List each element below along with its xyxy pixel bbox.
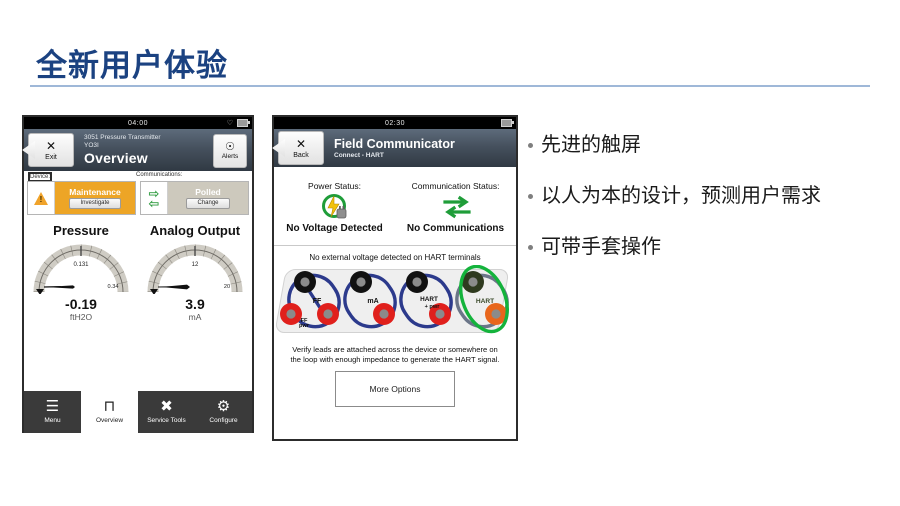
svg-text:+ pwr: + pwr xyxy=(425,304,441,310)
device1-body: Device: Communications: Maintenance Inve… xyxy=(24,171,252,433)
pressure-unit: ftH2O xyxy=(70,312,92,322)
list-item: 先进的触屏 xyxy=(528,132,878,159)
device1-title: Overview xyxy=(84,150,161,166)
power-plug-icon xyxy=(321,193,349,221)
bell-icon: ☉ xyxy=(225,142,235,153)
device2-body: Power Status: No Voltage Detected Commu xyxy=(274,167,516,439)
pressure-gauge-dial: 0.131 0.34 xyxy=(33,242,129,294)
pressure-gauge-title: Pressure xyxy=(53,223,109,238)
nav-item-service-tools[interactable]: ✖ Service Tools xyxy=(138,391,195,433)
device2-clock: 02:30 xyxy=(385,120,405,127)
svg-text:0.34: 0.34 xyxy=(108,284,119,290)
device2-statusbar: 02:30 xyxy=(274,117,516,129)
device1-subtitle-line2: YO3I xyxy=(84,142,161,150)
svg-text:pwr: pwr xyxy=(299,323,310,329)
bullet-dot-icon xyxy=(528,194,533,199)
device1-header-text: 3051 Pressure Transmitter YO3I Overview xyxy=(84,134,161,166)
device2-status-grid: Power Status: No Voltage Detected Commu xyxy=(274,167,516,246)
back-button[interactable]: ✕ Back xyxy=(278,131,324,165)
bullet-text: 可带手套操作 xyxy=(541,234,661,261)
device1-clock: 04:00 xyxy=(128,120,148,127)
svg-text:FF: FF xyxy=(313,298,322,305)
gauge-icon: ⊓ xyxy=(104,400,116,414)
investigate-button[interactable]: Investigate xyxy=(69,198,120,209)
svg-text:20: 20 xyxy=(224,284,230,290)
device-screenshot-overview: 04:00 ♡ ✕ Exit 3051 Pressure Transmitter… xyxy=(22,115,254,433)
nav-item-overview[interactable]: ⊓ Overview xyxy=(81,391,138,433)
device1-bottom-nav: ☰ Menu ⊓ Overview ✖ Service Tools ⚙ Conf… xyxy=(24,391,252,433)
svg-text:HART: HART xyxy=(420,296,438,303)
connector-diagram: FF FF pwr mA HART + pwr xyxy=(274,265,516,343)
device1-gauges: Pressure 0.131 0.34 xyxy=(24,223,252,322)
bullet-text: 先进的触屏 xyxy=(541,132,641,159)
device1-status-cards: Maintenance Investigate ⇨⇦ Polled Change xyxy=(27,181,249,215)
device1-titlebar: ✕ Exit 3051 Pressure Transmitter YO3I Ov… xyxy=(24,129,252,171)
pressure-value: -0.19 xyxy=(65,296,97,312)
gears-icon: ⚙ xyxy=(217,400,230,414)
list-item: 以人为本的设计，预测用户需求 xyxy=(528,183,878,210)
exchange-arrows-icon xyxy=(442,193,470,221)
device2-title: Field Communicator xyxy=(334,137,455,151)
nav-item-menu-label: Menu xyxy=(44,417,60,424)
alerts-button-label: Alerts xyxy=(222,154,239,161)
power-status-value: No Voltage Detected xyxy=(286,223,383,234)
device2-subtitle: Connect - HART xyxy=(334,152,455,159)
analog-output-gauge-title: Analog Output xyxy=(150,223,240,238)
communications-status-card[interactable]: ⇨⇦ Polled Change xyxy=(140,181,249,215)
device2-titlebar: ✕ Back Field Communicator Connect - HART xyxy=(274,129,516,167)
warning-triangle-icon xyxy=(28,182,55,214)
communications-label: Communications: xyxy=(136,172,182,178)
communications-status-title: Polled xyxy=(195,187,221,197)
title-divider xyxy=(30,85,870,87)
battery-icon xyxy=(501,119,512,127)
slide-root: 全新用户体验 04:00 ♡ ✕ Exit 3051 Pressure Tran… xyxy=(0,0,900,506)
device-status-title: Maintenance xyxy=(69,187,121,197)
list-item: 可带手套操作 xyxy=(528,234,878,261)
analog-output-gauge: Analog Output 12 20 xyxy=(138,223,252,322)
verify-instructions: Verify leads are attached across the dev… xyxy=(274,343,516,365)
device1-subtitle-line1: 3051 Pressure Transmitter xyxy=(84,134,161,142)
power-status-heading: Power Status: xyxy=(308,181,361,191)
back-button-label: Back xyxy=(293,152,309,159)
nav-item-configure[interactable]: ⚙ Configure xyxy=(195,391,252,433)
communication-status-heading: Communication Status: xyxy=(412,181,500,191)
nav-item-overview-label: Overview xyxy=(96,417,123,424)
device1-section-labels: Device: Communications: xyxy=(24,172,252,181)
svg-text:mA: mA xyxy=(367,298,378,305)
exit-button-label: Exit xyxy=(45,154,57,161)
menu-list-icon: ☰ xyxy=(46,400,59,414)
analog-output-unit: mA xyxy=(189,312,202,322)
nav-item-configure-label: Configure xyxy=(209,417,237,424)
power-status-block: Power Status: No Voltage Detected xyxy=(274,167,395,245)
nav-item-menu[interactable]: ☰ Menu xyxy=(24,391,81,433)
communication-status-value: No Communications xyxy=(407,223,504,234)
more-options-button[interactable]: More Options xyxy=(335,371,455,407)
bullet-dot-icon xyxy=(528,143,533,148)
alerts-button[interactable]: ☉ Alerts xyxy=(213,134,247,168)
page-title: 全新用户体验 xyxy=(36,40,228,85)
bullet-dot-icon xyxy=(528,245,533,250)
heart-icon: ♡ xyxy=(227,120,233,127)
device-screenshot-field-communicator: 02:30 ✕ Back Field Communicator Connect … xyxy=(272,115,518,441)
change-button[interactable]: Change xyxy=(186,198,229,209)
close-icon: ✕ xyxy=(296,138,306,150)
communication-status-block: Communication Status: No Communications xyxy=(395,167,516,245)
nav-item-service-tools-label: Service Tools xyxy=(147,417,186,424)
analog-output-gauge-dial: 12 20 xyxy=(147,242,243,294)
pressure-gauge: Pressure 0.131 0.34 xyxy=(24,223,138,322)
wrench-screwdriver-icon: ✖ xyxy=(160,400,173,414)
analog-output-value: 3.9 xyxy=(185,296,204,312)
close-icon: ✕ xyxy=(46,140,56,152)
device-status-card[interactable]: Maintenance Investigate xyxy=(27,181,136,215)
svg-text:12: 12 xyxy=(192,262,199,268)
bullet-list: 先进的触屏 以人为本的设计，预测用户需求 可带手套操作 xyxy=(528,132,878,285)
device2-statusbar-icons xyxy=(501,119,512,127)
voltage-notice: No external voltage detected on HART ter… xyxy=(274,246,516,265)
device1-statusbar: 04:00 ♡ xyxy=(24,117,252,129)
exit-button[interactable]: ✕ Exit xyxy=(28,133,74,167)
svg-text:0.131: 0.131 xyxy=(73,262,89,268)
device2-header-text: Field Communicator Connect - HART xyxy=(334,137,455,159)
bullet-text: 以人为本的设计，预测用户需求 xyxy=(541,183,821,210)
exchange-arrows-icon: ⇨⇦ xyxy=(141,182,168,214)
battery-icon xyxy=(237,119,248,127)
device1-statusbar-icons: ♡ xyxy=(227,119,248,127)
svg-text:HART: HART xyxy=(476,298,494,305)
